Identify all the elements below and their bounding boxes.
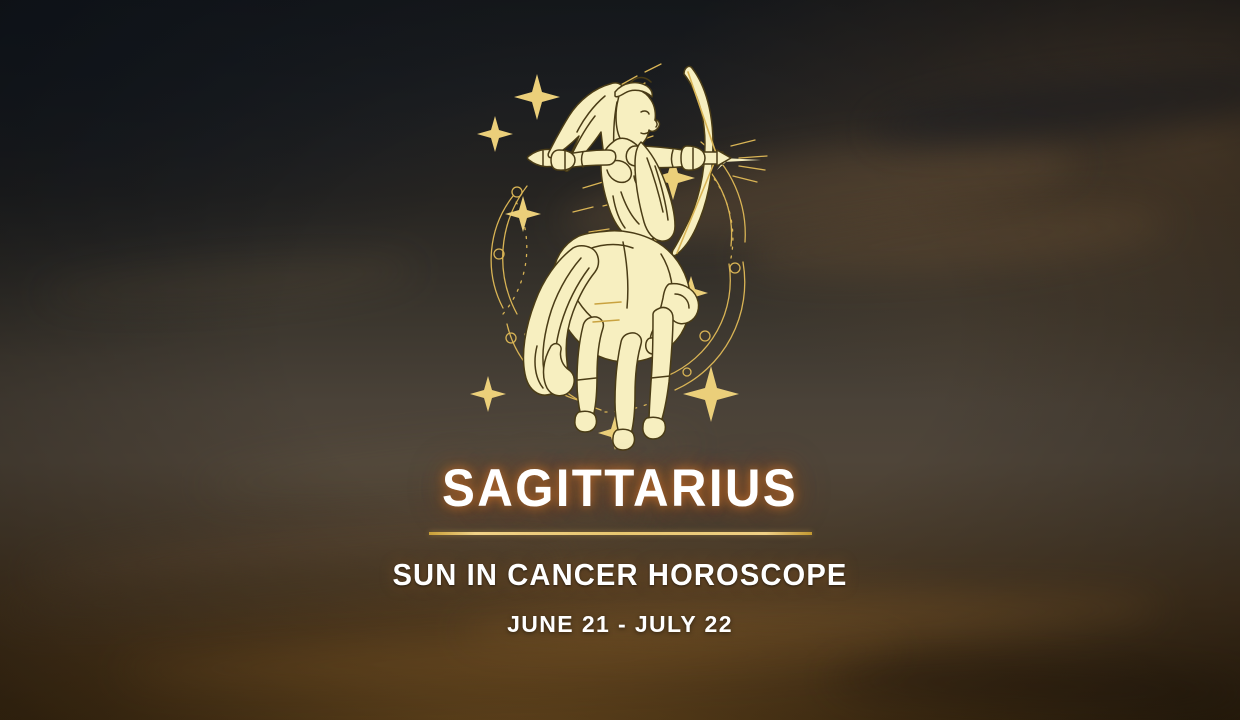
horoscope-subtitle: SUN IN CANCER HOROSCOPE [37,557,1203,593]
page-title: SAGITTARIUS [43,462,1196,515]
sagittarius-zodiac-icon: .fillc { fill:#F7EFC0; } .ln { fill:none… [455,46,785,456]
horoscope-banner: .fillc { fill:#F7EFC0; } .ln { fill:none… [0,0,1240,720]
title-divider [429,532,812,535]
banner-text-block: SAGITTARIUS SUN IN CANCER HOROSCOPE JUNE… [0,462,1240,638]
date-range-label: JUNE 21 - JULY 22 [0,611,1240,638]
